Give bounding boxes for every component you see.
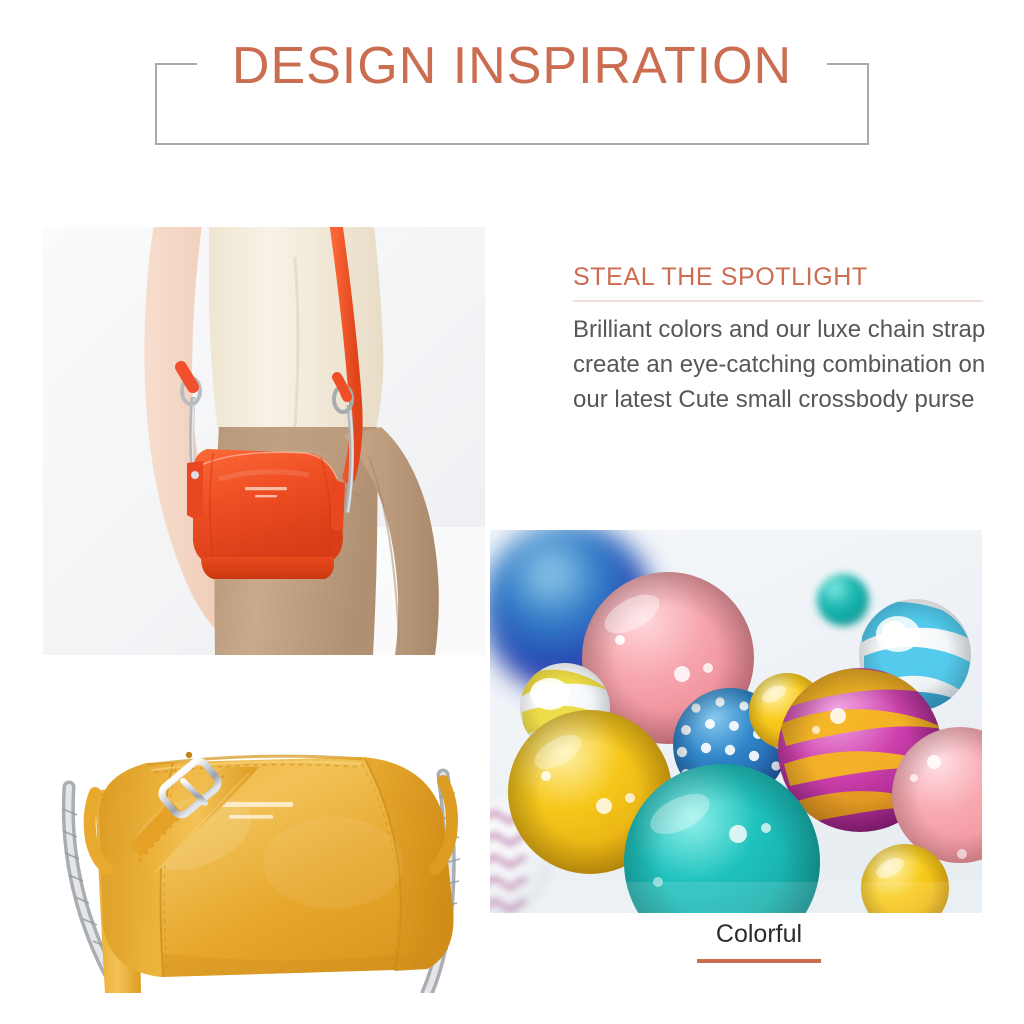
sphere-teal-small-top — [817, 574, 869, 626]
yellow-bag-product-photo — [43, 663, 485, 993]
colorful-spheres-photo — [490, 530, 982, 913]
copy-block: STEAL THE SPOTLIGHT Brilliant colors and… — [573, 263, 983, 417]
title-banner: DESIGN INSPIRATION — [155, 63, 869, 145]
spotlight-heading: STEAL THE SPOTLIGHT — [573, 263, 983, 292]
model-orange-bag — [187, 449, 345, 579]
design-inspiration-poster: DESIGN INSPIRATION — [0, 0, 1024, 1024]
colorful-spheres-illustration — [490, 530, 982, 913]
caption-block: Colorful — [655, 918, 863, 963]
model-lifestyle-photo — [43, 227, 485, 655]
yellow-bag-illustration — [43, 663, 485, 993]
page-title: DESIGN INSPIRATION — [155, 36, 869, 96]
caption-underline — [697, 959, 821, 963]
spotlight-body-text: Brilliant colors and our luxe chain stra… — [573, 312, 991, 417]
caption-label: Colorful — [655, 918, 863, 950]
model-illustration — [43, 227, 485, 655]
spotlight-divider — [573, 300, 983, 302]
